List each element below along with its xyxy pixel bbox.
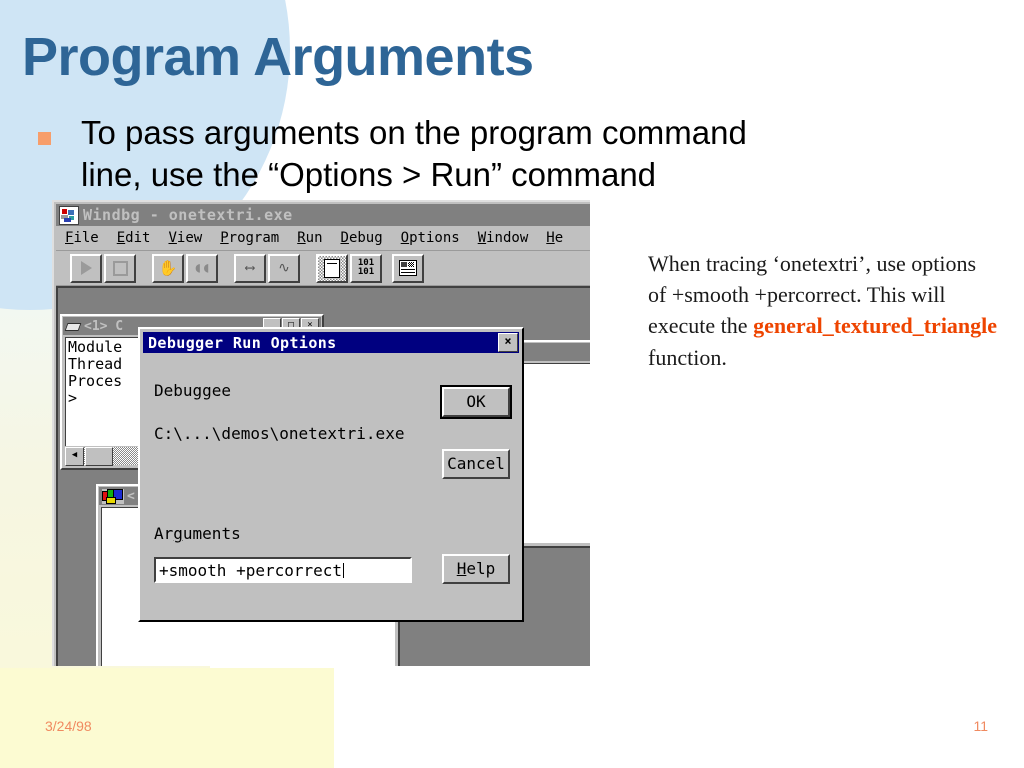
text-caret xyxy=(343,563,344,578)
mixed-mode-icon[interactable] xyxy=(392,254,424,283)
note-line-4: execute the xyxy=(648,313,748,338)
menu-help[interactable]: He xyxy=(537,230,572,246)
windbg-title-text: Windbg - onetextri.exe xyxy=(83,206,293,224)
break-hand-icon[interactable]: ✋ xyxy=(152,254,184,283)
note-line-3: +percorrect. This will xyxy=(755,282,946,307)
debugger-run-options-dialog[interactable]: Debugger Run Options × Debuggee C:\...\d… xyxy=(138,327,524,622)
annotation-note: When tracing ‘onetextri’, use options of… xyxy=(648,248,998,373)
windbg-toolbar: ✋ ◖◖ ⟷ ∿ 101101 xyxy=(56,251,590,286)
run-button[interactable] xyxy=(70,254,102,283)
arguments-input-value: +smooth +percorrect xyxy=(159,561,342,580)
footer-page-number: 11 xyxy=(973,718,988,734)
step-over-icon[interactable]: ⟷ xyxy=(234,254,266,283)
dialog-titlebar: Debugger Run Options × xyxy=(143,332,519,353)
ok-button[interactable]: OK xyxy=(442,387,510,417)
windbg-titlebar: Windbg - onetextri.exe xyxy=(56,204,590,226)
arguments-label: Arguments xyxy=(154,524,241,543)
menu-edit[interactable]: Edit xyxy=(108,230,160,246)
bullet-text: To pass arguments on the program command… xyxy=(81,112,938,196)
scroll-left-arrow-icon[interactable]: ◀ xyxy=(65,447,84,466)
menu-debug[interactable]: Debug xyxy=(332,230,392,246)
debuggee-path-value: C:\...\demos\onetextri.exe xyxy=(154,424,404,443)
footer-date: 3/24/98 xyxy=(45,718,92,734)
watch-glasses-icon[interactable]: ◖◖ xyxy=(186,254,218,283)
step-into-icon[interactable]: ∿ xyxy=(268,254,300,283)
scroll-thumb[interactable] xyxy=(85,447,113,466)
note-highlight-function: general_textured_triangle xyxy=(753,313,997,338)
note-line-1: When tracing ‘onetextri’, use xyxy=(648,251,906,276)
menu-options[interactable]: Options xyxy=(392,230,469,246)
windbg-app-icon xyxy=(59,206,79,225)
menu-window[interactable]: Window xyxy=(469,230,538,246)
stop-button[interactable] xyxy=(104,254,136,283)
help-button[interactable]: Help xyxy=(442,554,510,584)
menu-view[interactable]: View xyxy=(159,230,211,246)
blocks-icon xyxy=(102,489,124,504)
menu-run[interactable]: Run xyxy=(288,230,331,246)
debuggee-label: Debuggee xyxy=(154,381,231,400)
bullet-line-1: To pass arguments on the program command xyxy=(81,112,938,154)
menu-program[interactable]: Program xyxy=(211,230,288,246)
windbg-menubar: File Edit View Program Run Debug Options… xyxy=(56,226,590,251)
arguments-input[interactable]: +smooth +percorrect xyxy=(154,557,412,583)
source-mode-icon[interactable] xyxy=(316,254,348,283)
note-line-5: function. xyxy=(648,345,727,370)
dialog-title: Debugger Run Options xyxy=(143,334,498,352)
cancel-button[interactable]: Cancel xyxy=(442,449,510,479)
bullet-list: To pass arguments on the program command… xyxy=(38,112,938,196)
close-icon[interactable]: × xyxy=(498,333,518,352)
slide-canvas: Program Arguments To pass arguments on t… xyxy=(0,0,1024,768)
square-bullet-icon xyxy=(38,132,51,145)
command-window-icon xyxy=(65,319,80,333)
menu-file[interactable]: File xyxy=(56,230,108,246)
bullet-line-2: line, use the “Options > Run” command xyxy=(81,154,938,196)
page-title: Program Arguments xyxy=(22,26,534,88)
assembly-mode-icon[interactable]: 101101 xyxy=(350,254,382,283)
